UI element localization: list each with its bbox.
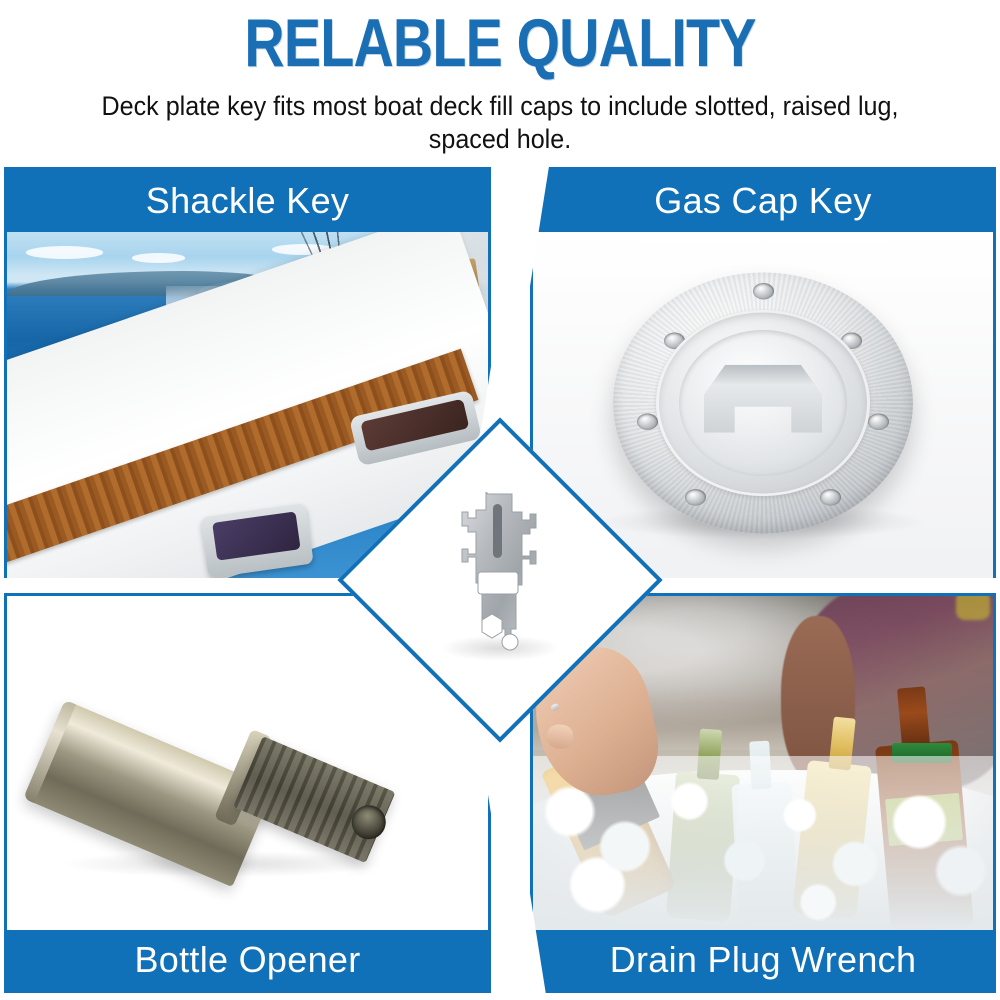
deck-plate-key-tool-icon bbox=[452, 492, 548, 668]
panel-label-bottle-opener: Bottle Opener bbox=[7, 930, 488, 990]
panel-label-gas-cap-key: Gas Cap Key bbox=[533, 170, 993, 232]
center-product-diamond[interactable] bbox=[385, 465, 615, 695]
bolt-icon bbox=[868, 413, 889, 430]
ring-icon bbox=[550, 703, 560, 712]
cloud-icon bbox=[132, 253, 185, 262]
bolt-icon bbox=[753, 282, 774, 299]
header: RELABLE QUALITY Deck plate key fits most… bbox=[0, 0, 1000, 160]
gas-cap-body bbox=[613, 272, 913, 533]
panel-label-drain-plug-wrench: Drain Plug Wrench bbox=[533, 930, 993, 990]
spline-head bbox=[232, 736, 395, 863]
socket-bore-hole bbox=[346, 800, 391, 845]
bolt-icon bbox=[637, 413, 658, 430]
shirt-graphic bbox=[956, 596, 990, 620]
cloud-icon bbox=[26, 246, 103, 258]
page-subtitle: Deck plate key fits most boat deck fill … bbox=[82, 90, 919, 156]
deck-hatch bbox=[200, 503, 313, 578]
finger bbox=[545, 723, 574, 749]
panel-label-shackle-key: Shackle Key bbox=[7, 170, 488, 232]
infographic-page: RELABLE QUALITY Deck plate key fits most… bbox=[0, 0, 1000, 1000]
page-title: RELABLE QUALITY bbox=[90, 8, 910, 78]
bolt-icon bbox=[820, 489, 841, 506]
bolt-icon bbox=[685, 489, 706, 506]
